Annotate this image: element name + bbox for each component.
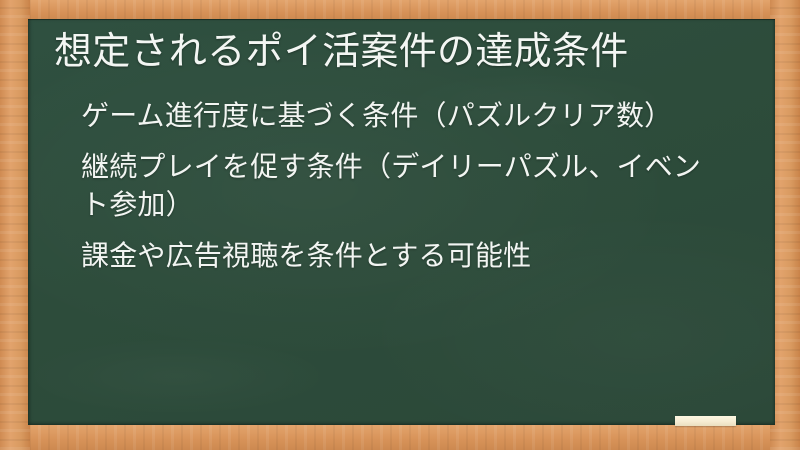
bullet-item-2: 継続プレイを促す条件（デイリーパズル、イベント参加）: [81, 148, 721, 224]
board-content: 想定されるポイ活案件の達成条件 ゲーム進行度に基づく条件（パズルクリア数） 継続…: [28, 19, 775, 425]
frame-rail-top: [0, 0, 800, 20]
bullet-item-1: ゲーム進行度に基づく条件（パズルクリア数）: [81, 97, 721, 135]
frame-rail-bottom: [0, 425, 800, 450]
bullet-item-3: 課金や広告視聴を条件とする可能性: [81, 237, 721, 275]
frame-stile-left: [0, 0, 30, 450]
chalkboard-surface: 想定されるポイ活案件の達成条件 ゲーム進行度に基づく条件（パズルクリア数） 継続…: [28, 19, 775, 425]
chalkboard-slide: 想定されるポイ活案件の達成条件 ゲーム進行度に基づく条件（パズルクリア数） 継続…: [0, 0, 800, 450]
chalk-stick-icon: [675, 416, 736, 426]
slide-title: 想定されるポイ活案件の達成条件: [54, 30, 753, 75]
bullet-list: ゲーム進行度に基づく条件（パズルクリア数） 継続プレイを促す条件（デイリーパズル…: [54, 97, 753, 275]
